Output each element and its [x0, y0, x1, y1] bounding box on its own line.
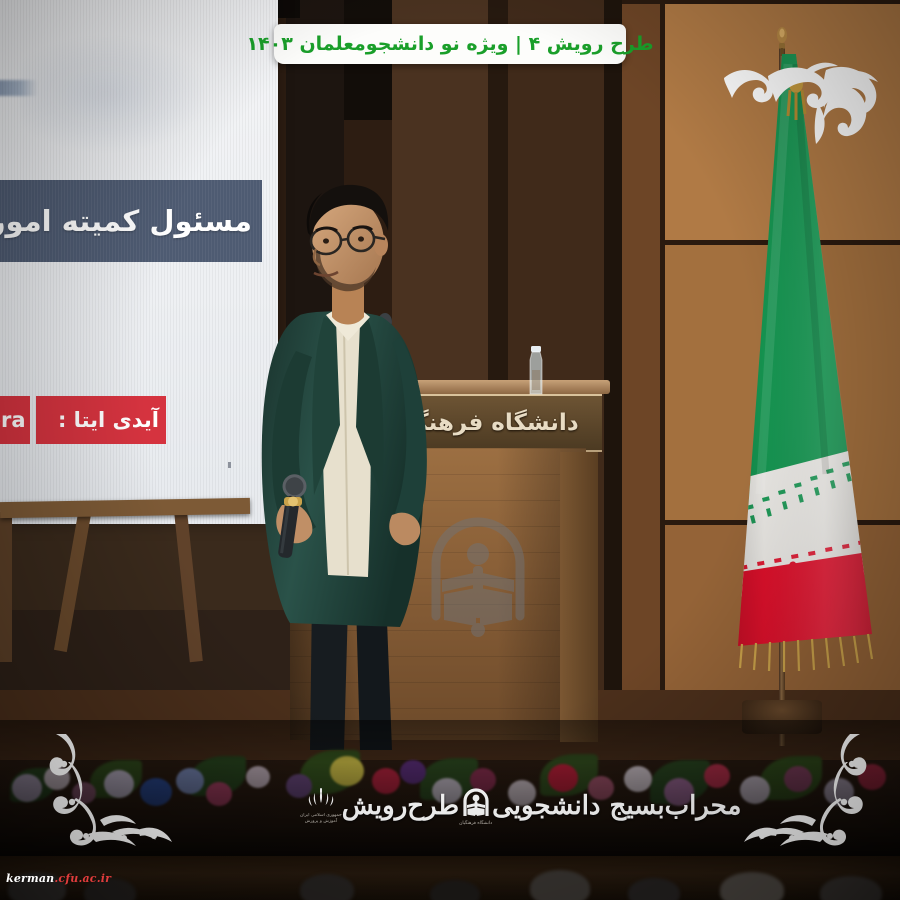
slide-artifact	[228, 462, 231, 468]
floral-corner-ornament-bottom-right	[744, 728, 874, 850]
projection-screen	[0, 0, 278, 524]
logo-tarh-calligraphy: طرح	[407, 791, 459, 821]
watermark-suffix: .cfu.ac.ir	[54, 872, 111, 885]
iranian-flag	[700, 54, 900, 674]
event-title-text: طرح رویش ۴ | ویژه نو دانشجومعلمان ۱۴۰۳	[246, 33, 653, 55]
slide-contact-label: آیدی ایتا :	[58, 408, 159, 432]
slide-headline-band: مسئول کمیته امور	[0, 180, 262, 262]
podium-side-panel	[560, 452, 598, 742]
iran-emblem-icon	[308, 788, 334, 812]
logo-farhangian-university: دانشگاه فرهنگیان	[459, 786, 492, 826]
tarh-calligraphy-text: طرح	[407, 791, 459, 821]
logo-rooyesh-calligraphy: رویش	[342, 791, 408, 821]
site-watermark: kerman.cfu.ac.ir	[6, 872, 111, 885]
slide-contact-band-clipped: bra	[0, 396, 30, 444]
floral-corner-ornament-bottom-left	[42, 728, 172, 850]
slide-headline-text: مسئول کمیته امور	[0, 204, 252, 238]
logo-iran-emblem: جمهوری اسلامی ایران آموزش و پرورش	[300, 788, 342, 824]
logo-basij-calligraphy: بسیج دانشجویی	[492, 791, 664, 821]
farhangian-logo-icon	[460, 786, 492, 820]
event-title-banner: طرح رویش ۴ | ویژه نو دانشجومعلمان ۱۴۰۳	[274, 24, 626, 64]
basij-calligraphy-text: بسیج دانشجویی	[492, 791, 664, 821]
speaker-person	[240, 175, 470, 750]
watermark-primary: kerman	[6, 872, 54, 885]
floral-scroll-ornament-top-right	[718, 26, 888, 146]
slide-contact-band: آیدی ایتا :	[36, 396, 166, 444]
logo-mehrab-calligraphy: محراب	[665, 791, 742, 821]
slide-watermark-accent	[0, 80, 38, 96]
logo-ministry-caption: آموزش و پرورش	[305, 819, 337, 824]
water-bottle	[526, 346, 546, 396]
sponsor-logo-row: جمهوری اسلامی ایران آموزش و پرورش رویش ط…	[300, 778, 620, 834]
screenshot-root: مسئول کمیته امور آیدی ایتا : bra	[0, 0, 900, 900]
stage-truss-leg	[0, 512, 12, 662]
logo-farhangian-caption: دانشگاه فرهنگیان	[459, 821, 492, 826]
mehrab-calligraphy-text: محراب	[665, 791, 742, 821]
rooyesh-calligraphy-text: رویش	[342, 791, 408, 821]
slide-contact-partial: bra	[0, 408, 26, 432]
logo-iran-caption: جمهوری اسلامی ایران	[300, 813, 342, 818]
audience-row	[0, 856, 900, 900]
slide-watermark	[20, 34, 210, 154]
